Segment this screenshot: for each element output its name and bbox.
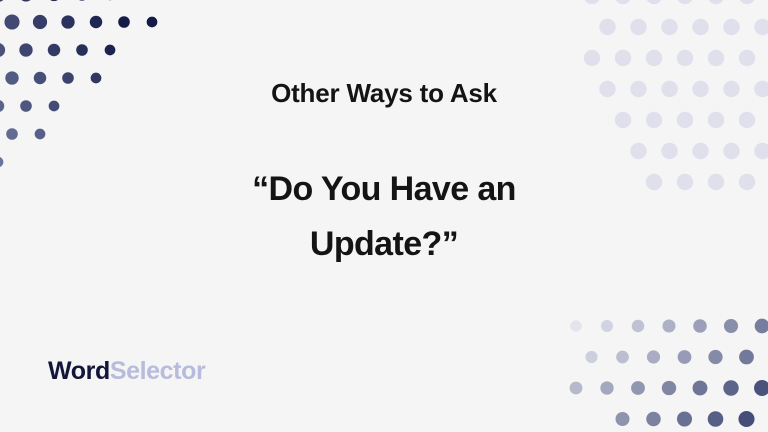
page-title: “Do You Have an Update?”	[134, 162, 634, 272]
brand-logo-word: Word	[48, 357, 110, 385]
slide-canvas: Other Ways to Ask “Do You Have an Update…	[0, 0, 768, 432]
content-area: Other Ways to Ask “Do You Have an Update…	[0, 0, 768, 432]
eyebrow-title: Other Ways to Ask	[0, 78, 768, 109]
brand-logo-selector: Selector	[110, 357, 205, 385]
brand-logo[interactable]: WordSelector	[48, 358, 205, 386]
page-title-line-2: Update?”	[134, 217, 634, 272]
page-title-line-1: “Do You Have an	[134, 162, 634, 217]
